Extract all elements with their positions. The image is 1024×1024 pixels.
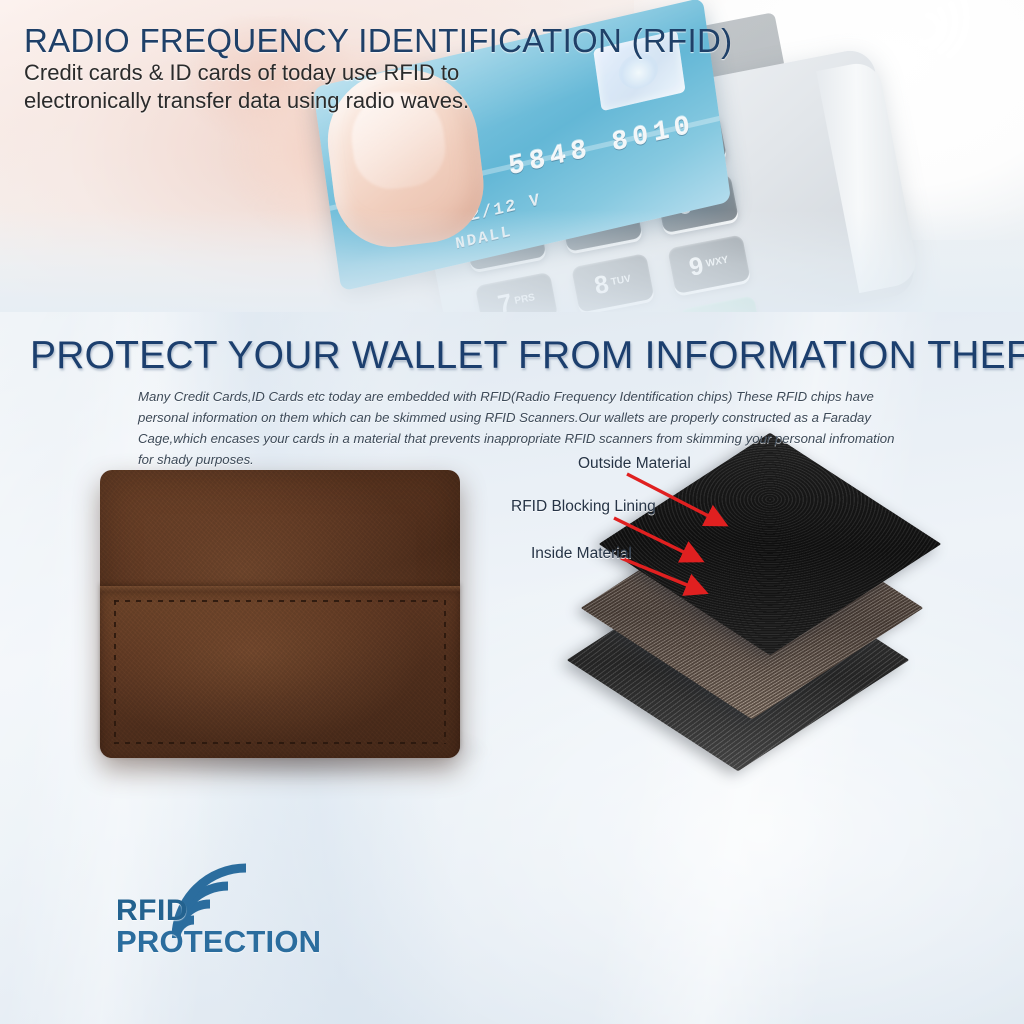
key-letters: TUV [610, 275, 631, 288]
body-paragraph: Many Credit Cards,ID Cards etc today are… [138, 386, 908, 470]
label-rfid-blocking-lining: RFID Blocking Lining [511, 498, 656, 516]
logo-text-protection: PROTECTION [116, 924, 321, 960]
key-number: 4 [485, 229, 503, 256]
keypad-key-4: 4 GHI [463, 211, 546, 271]
rfid-protection-logo: RFID PROTECTION [116, 862, 376, 962]
page-title-rfid: RADIO FREQUENCY IDENTIFICATION (RFID) [24, 22, 732, 60]
key-letters: GHI [503, 233, 522, 246]
wallet-front-pocket [100, 586, 460, 758]
stitch-line [114, 600, 444, 602]
stitch-line [114, 742, 444, 744]
key-number: 8 [592, 272, 610, 299]
subtitle-line-2: electronically transfer data using radio… [24, 88, 469, 114]
key-letters: PRS [514, 293, 536, 306]
keypad-key-9: 9 WXY [667, 234, 750, 294]
leather-texture [100, 586, 460, 758]
card-holder-name: NDALL [454, 223, 513, 254]
stitch-line [114, 600, 116, 744]
key-letters: WXY [705, 256, 729, 270]
key-number: 9 [687, 253, 705, 280]
label-inside-material: Inside Material [531, 545, 632, 563]
stitch-line [444, 600, 446, 744]
wallet-product-photo: um pantaloons greencard PAYBACK RP: Sanj… [100, 470, 500, 800]
key-number: 5 [581, 211, 599, 238]
subtitle-line-1: Credit cards & ID cards of today use RFI… [24, 60, 459, 86]
key-letters: JKL [599, 214, 619, 227]
keypad-key-8: 8 TUV [571, 253, 654, 313]
logo-text-rfid: RFID [116, 894, 188, 928]
section-title-protect: PROTECT YOUR WALLET FROM INFORMATION THE… [30, 334, 1024, 378]
infographic-page: 1 QZ 2 ABC 3 DEF [0, 0, 1024, 1024]
